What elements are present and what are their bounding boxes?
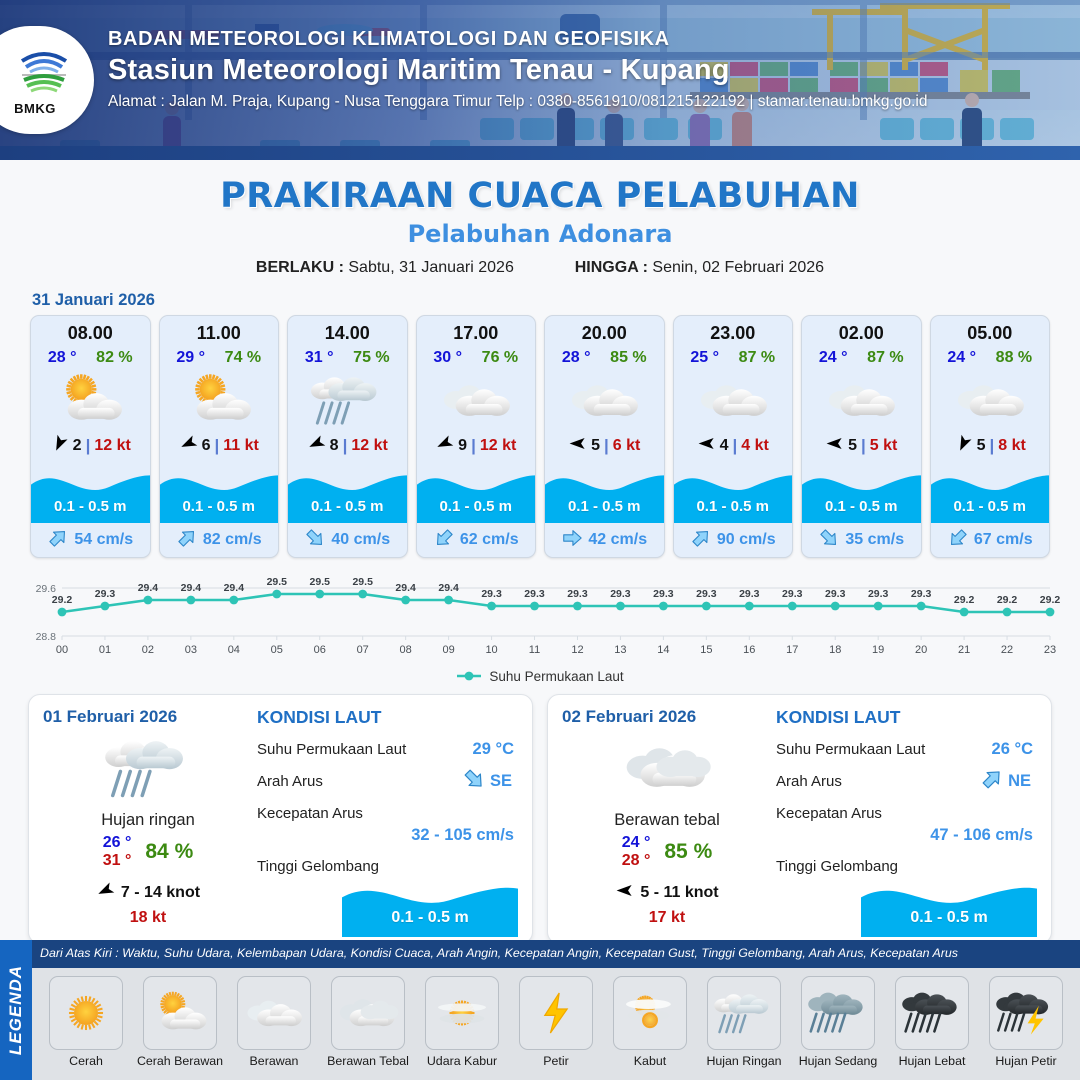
wave-height-value: 0.1 - 0.5 m	[802, 498, 921, 515]
wave-height-label: Tinggi Gelombang	[257, 858, 379, 875]
berawan-icon	[237, 976, 311, 1050]
current-direction-arrow-icon	[690, 527, 712, 554]
hujan-lebat-icon	[895, 976, 969, 1050]
day-card[interactable]: 02 Februari 2026 Berawan tebal 24 ° 28 °	[547, 694, 1052, 944]
svg-text:05: 05	[271, 644, 283, 656]
sea-conditions: KONDISI LAUT Suhu Permukaan Laut 29 °C A…	[253, 707, 518, 933]
current-direction-arrow-icon	[47, 527, 69, 554]
wind-speed-value: 11 kt	[223, 437, 259, 455]
day-temp-hum: 26 ° 31 ° 84 %	[43, 834, 253, 871]
day-card[interactable]: 01 Februari 2026 Hujan ringan 26 ° 31 ° …	[28, 694, 533, 944]
svg-text:04: 04	[228, 644, 240, 656]
svg-text:06: 06	[314, 644, 326, 656]
wave-height-value: 0.1 - 0.5 m	[545, 498, 664, 515]
wind-direction-arrow-icon	[179, 434, 198, 458]
legend-item-label: Cerah	[42, 1054, 130, 1068]
forecast-date-label: 31 Januari 2026	[32, 291, 1080, 310]
current-direction-label: Arah Arus	[257, 773, 323, 790]
berawan-tebal-icon	[331, 976, 405, 1050]
hour-temp-hum: 28 ° 82 %	[31, 349, 150, 367]
page-title: PRAKIRAAN CUACA PELABUHAN	[0, 176, 1080, 216]
hour-humidity: 74 %	[225, 349, 261, 367]
station-name: Stasiun Meteorologi Maritim Tenau - Kupa…	[108, 54, 1066, 87]
hour-current: 42 cm/s	[545, 523, 664, 557]
svg-text:29.3: 29.3	[524, 588, 545, 600]
svg-text:22: 22	[1001, 644, 1013, 656]
hour-wave: 0.1 - 0.5 m	[674, 463, 793, 523]
daily-forecast-row: 01 Februari 2026 Hujan ringan 26 ° 31 ° …	[0, 684, 1080, 944]
svg-text:16: 16	[743, 644, 755, 656]
hour-wind: 5 | 6 kt	[545, 431, 664, 461]
valid-from-label: BERLAKU :	[256, 259, 344, 276]
wave-height-value: 0.1 - 0.5 m	[288, 498, 407, 515]
svg-text:12: 12	[571, 644, 583, 656]
wind-speed-value: 12 kt	[351, 437, 387, 455]
svg-text:29.5: 29.5	[352, 576, 373, 588]
hour-temp-hum: 29 ° 74 %	[160, 349, 279, 367]
wind-direction-arrow-icon	[697, 434, 716, 458]
current-direction-arrow-icon	[947, 527, 969, 554]
wind-separator: |	[343, 436, 348, 456]
wind-direction-value: 4	[720, 437, 729, 455]
petir-icon	[519, 976, 593, 1050]
wind-direction-arrow-icon	[96, 881, 115, 905]
current-direction-row: Arah Arus NE	[776, 770, 1037, 792]
berawan-icon	[674, 369, 793, 431]
svg-text:29.3: 29.3	[95, 588, 116, 600]
hour-card[interactable]: 17.00 30 ° 76 % 9 | 12 kt 0.1 - 0	[416, 315, 537, 558]
sst-value: 26 °C	[992, 740, 1033, 759]
cerah-berawan-icon	[31, 369, 150, 431]
hour-card[interactable]: 11.00 29 ° 74 % 6 | 11 kt 0.1 - 0.5 m	[159, 315, 280, 558]
day-condition: Berawan tebal	[562, 811, 772, 830]
svg-text:29.2: 29.2	[52, 594, 73, 606]
legend-item-label: Cerah Berawan	[136, 1054, 224, 1068]
berawan-icon	[802, 369, 921, 431]
legend-note: Dari Atas Kiri : Waktu, Suhu Udara, Kele…	[40, 946, 1074, 960]
hour-temp-hum: 25 ° 87 %	[674, 349, 793, 367]
hour-time: 20.00	[545, 316, 664, 344]
svg-text:07: 07	[357, 644, 369, 656]
hujan-petir-icon	[989, 976, 1063, 1050]
berawan-icon	[417, 369, 536, 431]
wind-separator: |	[861, 436, 866, 456]
hour-temp-hum: 31 ° 75 %	[288, 349, 407, 367]
day-temp-hum: 24 ° 28 ° 85 %	[562, 834, 772, 871]
day-summary: 02 Februari 2026 Berawan tebal 24 ° 28 °	[562, 707, 772, 933]
current-direction-arrow-icon	[818, 527, 840, 554]
page-header: BMKG BADAN METEOROLOGI KLIMATOLOGI DAN G…	[0, 0, 1080, 160]
hour-temperature: 24 °	[947, 349, 976, 367]
hour-current: 54 cm/s	[31, 523, 150, 557]
wave-height-value: 0.1 - 0.5 m	[417, 498, 536, 515]
day-temp-max: 31 °	[103, 852, 132, 869]
svg-text:29.2: 29.2	[997, 594, 1018, 606]
hour-humidity: 88 %	[996, 349, 1032, 367]
wind-direction-arrow-icon	[825, 434, 844, 458]
wind-direction-arrow-icon	[307, 434, 326, 458]
hour-wave: 0.1 - 0.5 m	[417, 463, 536, 523]
svg-text:29.5: 29.5	[267, 576, 288, 588]
day-date: 02 Februari 2026	[562, 707, 772, 727]
chart-legend: Suhu Permukaan Laut	[0, 669, 1080, 684]
wind-separator: |	[604, 436, 609, 456]
wind-speed-value: 6 kt	[613, 437, 641, 455]
current-speed-value: 40 cm/s	[331, 531, 390, 549]
current-speed-value: 62 cm/s	[460, 531, 519, 549]
hour-temp-hum: 24 ° 88 %	[931, 349, 1050, 367]
svg-text:29.2: 29.2	[1040, 594, 1060, 606]
legend-item: Berawan	[230, 976, 318, 1068]
wave-height-value: 0.1 - 0.5 m	[674, 498, 793, 515]
legend-item: Udara Kabur	[418, 976, 506, 1068]
svg-text:29.4: 29.4	[438, 582, 459, 594]
current-speed-label: Kecepatan Arus	[776, 805, 882, 822]
wind-speed-value: 12 kt	[480, 437, 516, 455]
hour-wind: 5 | 5 kt	[802, 431, 921, 461]
wind-direction-arrow-icon	[954, 434, 973, 458]
wind-speed-value: 12 kt	[94, 437, 130, 455]
wind-direction-value: 5	[848, 437, 857, 455]
hour-wave: 0.1 - 0.5 m	[288, 463, 407, 523]
svg-text:11: 11	[529, 644, 540, 656]
valid-until-value: Senin, 02 Februari 2026	[652, 259, 824, 276]
sst-row: Suhu Permukaan Laut 26 °C	[776, 738, 1037, 760]
legend-item: Hujan Sedang	[794, 976, 882, 1068]
svg-text:29.3: 29.3	[739, 588, 760, 600]
legend-item: Kabut	[606, 976, 694, 1068]
wave-height-graphic: 0.1 - 0.5 m	[861, 875, 1037, 937]
day-humidity: 85 %	[664, 840, 712, 864]
sst-chart-svg: 29.628.829.20029.30129.40229.40329.40429…	[20, 570, 1060, 665]
legend-item-label: Udara Kabur	[418, 1054, 506, 1068]
hour-humidity: 87 %	[739, 349, 775, 367]
current-direction-arrow-icon	[462, 767, 486, 796]
legend-icon-strip: Cerah Cerah Berawan Berawan	[32, 968, 1080, 1080]
current-direction-row: Arah Arus SE	[257, 770, 518, 792]
day-date: 01 Februari 2026	[43, 707, 253, 727]
svg-text:29.4: 29.4	[395, 582, 416, 594]
day-temp-min: 26 °	[103, 834, 132, 851]
current-direction-value-group: SE	[462, 767, 512, 796]
title-block: PRAKIRAAN CUACA PELABUHAN Pelabuhan Adon…	[0, 176, 1080, 277]
legend-item-label: Hujan Lebat	[888, 1054, 976, 1068]
svg-text:29.3: 29.3	[481, 588, 502, 600]
current-direction-arrow-icon	[980, 767, 1004, 796]
current-speed-value: 90 cm/s	[717, 531, 776, 549]
hujan-sedang-icon	[801, 976, 875, 1050]
hour-temperature: 30 °	[433, 349, 462, 367]
current-speed-value: 82 cm/s	[203, 531, 262, 549]
udara-kabur-icon	[425, 976, 499, 1050]
wind-direction-value: 2	[73, 437, 82, 455]
hour-temperature: 28 °	[48, 349, 77, 367]
hujan-ringan-icon	[288, 369, 407, 431]
current-direction-arrow-icon	[176, 527, 198, 554]
hourly-forecast-row: 08.00 28 ° 82 % 2 | 12 kt 0.1 - 0.5 m	[0, 315, 1080, 558]
sst-label: Suhu Permukaan Laut	[257, 741, 406, 758]
sst-chart: 29.628.829.20029.30129.40229.40329.40429…	[20, 570, 1060, 665]
current-direction-value: SE	[490, 772, 512, 791]
current-speed-row: Kecepatan Arus	[257, 802, 518, 824]
hour-wave: 0.1 - 0.5 m	[802, 463, 921, 523]
wind-direction-value: 6	[202, 437, 211, 455]
wind-speed-value: 4 kt	[741, 437, 769, 455]
svg-text:13: 13	[614, 644, 626, 656]
wave-height-value: 0.1 - 0.5 m	[160, 498, 279, 515]
hour-wave: 0.1 - 0.5 m	[31, 463, 150, 523]
hour-current: 90 cm/s	[674, 523, 793, 557]
legend-footer: LEGENDA Dari Atas Kiri : Waktu, Suhu Uda…	[0, 940, 1080, 1080]
svg-text:29.4: 29.4	[138, 582, 159, 594]
hour-card[interactable]: 08.00 28 ° 82 % 2 | 12 kt 0.1 - 0.5 m	[30, 315, 151, 558]
svg-text:09: 09	[442, 644, 454, 656]
hour-temp-hum: 30 ° 76 %	[417, 349, 536, 367]
svg-text:19: 19	[872, 644, 884, 656]
svg-text:29.3: 29.3	[653, 588, 674, 600]
svg-text:00: 00	[56, 644, 68, 656]
current-direction-arrow-icon	[433, 527, 455, 554]
current-speed-value: 35 cm/s	[845, 531, 904, 549]
current-speed-value: 67 cm/s	[974, 531, 1033, 549]
valid-from-value: Sabtu, 31 Januari 2026	[348, 259, 513, 276]
legend-item: Hujan Petir	[982, 976, 1070, 1068]
svg-text:28.8: 28.8	[36, 631, 57, 643]
svg-text:21: 21	[958, 644, 970, 656]
hour-wave: 0.1 - 0.5 m	[545, 463, 664, 523]
hour-wind: 2 | 12 kt	[31, 431, 150, 461]
header-text-block: BADAN METEOROLOGI KLIMATOLOGI DAN GEOFIS…	[108, 28, 1066, 111]
svg-text:29.3: 29.3	[911, 588, 932, 600]
hour-wind: 9 | 12 kt	[417, 431, 536, 461]
legend-item-label: Hujan Sedang	[794, 1054, 882, 1068]
hour-current: 67 cm/s	[931, 523, 1050, 557]
day-wind: 7 - 14 knot	[43, 881, 253, 905]
hour-card[interactable]: 14.00 31 ° 75 % 8 | 12 kt 0.1 - 0	[287, 315, 408, 558]
svg-text:29.3: 29.3	[868, 588, 889, 600]
hour-temperature: 28 °	[562, 349, 591, 367]
day-summary: 01 Februari 2026 Hujan ringan 26 ° 31 ° …	[43, 707, 253, 933]
legend-side-title: LEGENDA	[6, 965, 26, 1055]
page-subtitle: Pelabuhan Adonara	[0, 220, 1080, 248]
wave-height-graphic: 0.1 - 0.5 m	[342, 875, 518, 937]
hour-card[interactable]: 02.00 24 ° 87 % 5 | 5 kt 0.1 - 0.	[801, 315, 922, 558]
wind-direction-value: 9	[458, 437, 467, 455]
svg-text:29.5: 29.5	[310, 576, 331, 588]
hour-humidity: 87 %	[867, 349, 903, 367]
day-condition: Hujan ringan	[43, 811, 253, 830]
day-gust-value: 17 kt	[562, 909, 772, 927]
day-wind-range: 7 - 14 knot	[121, 884, 200, 902]
legend-item-label: Berawan Tebal	[324, 1054, 412, 1068]
legend-item: Cerah	[42, 976, 130, 1068]
current-direction-label: Arah Arus	[776, 773, 842, 790]
legend-item: Hujan Lebat	[888, 976, 976, 1068]
hujan-ringan-icon	[707, 976, 781, 1050]
wave-height-value: 0.1 - 0.5 m	[931, 498, 1050, 515]
current-direction-arrow-icon	[304, 527, 326, 554]
hour-humidity: 75 %	[353, 349, 389, 367]
legend-item-label: Hujan Ringan	[700, 1054, 788, 1068]
wind-direction-value: 5	[591, 437, 600, 455]
svg-text:10: 10	[485, 644, 497, 656]
current-speed-value: 32 - 105 cm/s	[257, 826, 518, 845]
wind-separator: |	[215, 436, 220, 456]
wind-separator: |	[733, 436, 738, 456]
hour-time: 23.00	[674, 316, 793, 344]
legend-side-tab: LEGENDA	[0, 940, 32, 1080]
svg-text:29.2: 29.2	[954, 594, 975, 606]
wind-direction-arrow-icon	[615, 881, 634, 905]
wave-height-row: Tinggi Gelombang	[776, 855, 1037, 877]
hour-temperature: 31 °	[305, 349, 334, 367]
cerah-berawan-icon	[143, 976, 217, 1050]
wind-direction-arrow-icon	[50, 434, 69, 458]
current-direction-value-group: NE	[980, 767, 1031, 796]
hour-humidity: 82 %	[96, 349, 132, 367]
wind-direction-arrow-icon	[568, 434, 587, 458]
current-speed-value: 54 cm/s	[74, 531, 133, 549]
hour-temp-hum: 24 ° 87 %	[802, 349, 921, 367]
svg-text:29.3: 29.3	[610, 588, 631, 600]
validity-row: BERLAKU : Sabtu, 31 Januari 2026 HINGGA …	[0, 259, 1080, 277]
legend-item-label: Kabut	[606, 1054, 694, 1068]
wave-height-row: Tinggi Gelombang	[257, 855, 518, 877]
wind-direction-value: 5	[977, 437, 986, 455]
wind-direction-arrow-icon	[435, 434, 454, 458]
berawan-tebal-icon	[562, 731, 772, 805]
legend-item-label: Hujan Petir	[982, 1054, 1070, 1068]
svg-text:23: 23	[1044, 644, 1056, 656]
hour-time: 14.00	[288, 316, 407, 344]
hour-current: 62 cm/s	[417, 523, 536, 557]
hour-temp-hum: 28 ° 85 %	[545, 349, 664, 367]
wave-height-value: 0.1 - 0.5 m	[31, 498, 150, 515]
svg-text:29.4: 29.4	[224, 582, 245, 594]
wind-separator: |	[990, 436, 995, 456]
sea-conditions-title: KONDISI LAUT	[257, 707, 518, 728]
hour-wave: 0.1 - 0.5 m	[931, 463, 1050, 523]
hour-card[interactable]: 23.00 25 ° 87 % 4 | 4 kt 0.1 - 0.	[673, 315, 794, 558]
kabut-icon	[613, 976, 687, 1050]
hour-temperature: 29 °	[176, 349, 205, 367]
day-temp-min: 24 °	[622, 834, 651, 851]
legend-item: Cerah Berawan	[136, 976, 224, 1068]
current-speed-row: Kecepatan Arus	[776, 802, 1037, 824]
current-speed-value: 42 cm/s	[588, 531, 647, 549]
chart-legend-marker-icon	[456, 669, 482, 684]
chart-legend-label: Suhu Permukaan Laut	[489, 669, 623, 684]
svg-text:17: 17	[786, 644, 798, 656]
hour-humidity: 76 %	[482, 349, 518, 367]
sst-label: Suhu Permukaan Laut	[776, 741, 925, 758]
hour-time: 17.00	[417, 316, 536, 344]
svg-text:14: 14	[657, 644, 669, 656]
hour-time: 08.00	[31, 316, 150, 344]
current-direction-arrow-icon	[561, 527, 583, 554]
svg-text:18: 18	[829, 644, 841, 656]
day-wind: 5 - 11 knot	[562, 881, 772, 905]
svg-text:20: 20	[915, 644, 927, 656]
wave-height-value: 0.1 - 0.5 m	[342, 909, 518, 927]
hour-time: 11.00	[160, 316, 279, 344]
wind-separator: |	[471, 436, 476, 456]
valid-until-label: HINGGA :	[575, 259, 648, 276]
wind-speed-value: 5 kt	[870, 437, 898, 455]
day-wind-range: 5 - 11 knot	[640, 884, 718, 902]
current-speed-value: 47 - 106 cm/s	[776, 826, 1037, 845]
hour-temperature: 24 °	[819, 349, 848, 367]
sst-value: 29 °C	[473, 740, 514, 759]
svg-text:29.3: 29.3	[782, 588, 803, 600]
hour-time: 05.00	[931, 316, 1050, 344]
station-address: Alamat : Jalan M. Praja, Kupang - Nusa T…	[108, 93, 1066, 111]
hour-current: 82 cm/s	[160, 523, 279, 557]
svg-text:29.3: 29.3	[696, 588, 717, 600]
hour-humidity: 85 %	[610, 349, 646, 367]
hour-temperature: 25 °	[690, 349, 719, 367]
berawan-icon	[545, 369, 664, 431]
wave-height-value: 0.1 - 0.5 m	[861, 909, 1037, 927]
day-temp-max: 28 °	[622, 852, 651, 869]
sst-row: Suhu Permukaan Laut 29 °C	[257, 738, 518, 760]
wind-direction-value: 8	[330, 437, 339, 455]
bmkg-logo-icon	[16, 45, 72, 100]
header-bottom-bar	[0, 146, 1080, 160]
svg-text:03: 03	[185, 644, 197, 656]
legend-item: Petir	[512, 976, 600, 1068]
hujan-ringan-icon	[43, 731, 253, 805]
legend-item-label: Berawan	[230, 1054, 318, 1068]
wave-height-label: Tinggi Gelombang	[776, 858, 898, 875]
sea-conditions-title: KONDISI LAUT	[776, 707, 1037, 728]
svg-text:15: 15	[700, 644, 712, 656]
svg-text:29.3: 29.3	[825, 588, 846, 600]
hour-wind: 4 | 4 kt	[674, 431, 793, 461]
hour-wind: 6 | 11 kt	[160, 431, 279, 461]
wind-separator: |	[86, 436, 91, 456]
svg-text:02: 02	[142, 644, 154, 656]
hour-card[interactable]: 20.00 28 ° 85 % 5 | 6 kt 0.1 - 0.	[544, 315, 665, 558]
legend-item: Berawan Tebal	[324, 976, 412, 1068]
hour-wave: 0.1 - 0.5 m	[160, 463, 279, 523]
hour-wind: 8 | 12 kt	[288, 431, 407, 461]
cerah-berawan-icon	[160, 369, 279, 431]
svg-text:01: 01	[99, 644, 111, 656]
cerah-icon	[49, 976, 123, 1050]
svg-text:08: 08	[400, 644, 412, 656]
legend-item-label: Petir	[512, 1054, 600, 1068]
svg-text:29.4: 29.4	[181, 582, 202, 594]
current-direction-value: NE	[1008, 772, 1031, 791]
svg-text:29.3: 29.3	[567, 588, 588, 600]
current-speed-label: Kecepatan Arus	[257, 805, 363, 822]
day-humidity: 84 %	[145, 840, 193, 864]
sea-conditions: KONDISI LAUT Suhu Permukaan Laut 26 °C A…	[772, 707, 1037, 933]
hour-wind: 5 | 8 kt	[931, 431, 1050, 461]
berawan-icon	[931, 369, 1050, 431]
day-gust-value: 18 kt	[43, 909, 253, 927]
bmkg-logo-text: BMKG	[14, 101, 56, 116]
legend-item: Hujan Ringan	[700, 976, 788, 1068]
wind-speed-value: 8 kt	[998, 437, 1026, 455]
hour-time: 02.00	[802, 316, 921, 344]
hour-current: 35 cm/s	[802, 523, 921, 557]
organization-name: BADAN METEOROLOGI KLIMATOLOGI DAN GEOFIS…	[108, 28, 1066, 51]
hour-current: 40 cm/s	[288, 523, 407, 557]
hour-card[interactable]: 05.00 24 ° 88 % 5 | 8 kt 0.1 - 0.	[930, 315, 1051, 558]
